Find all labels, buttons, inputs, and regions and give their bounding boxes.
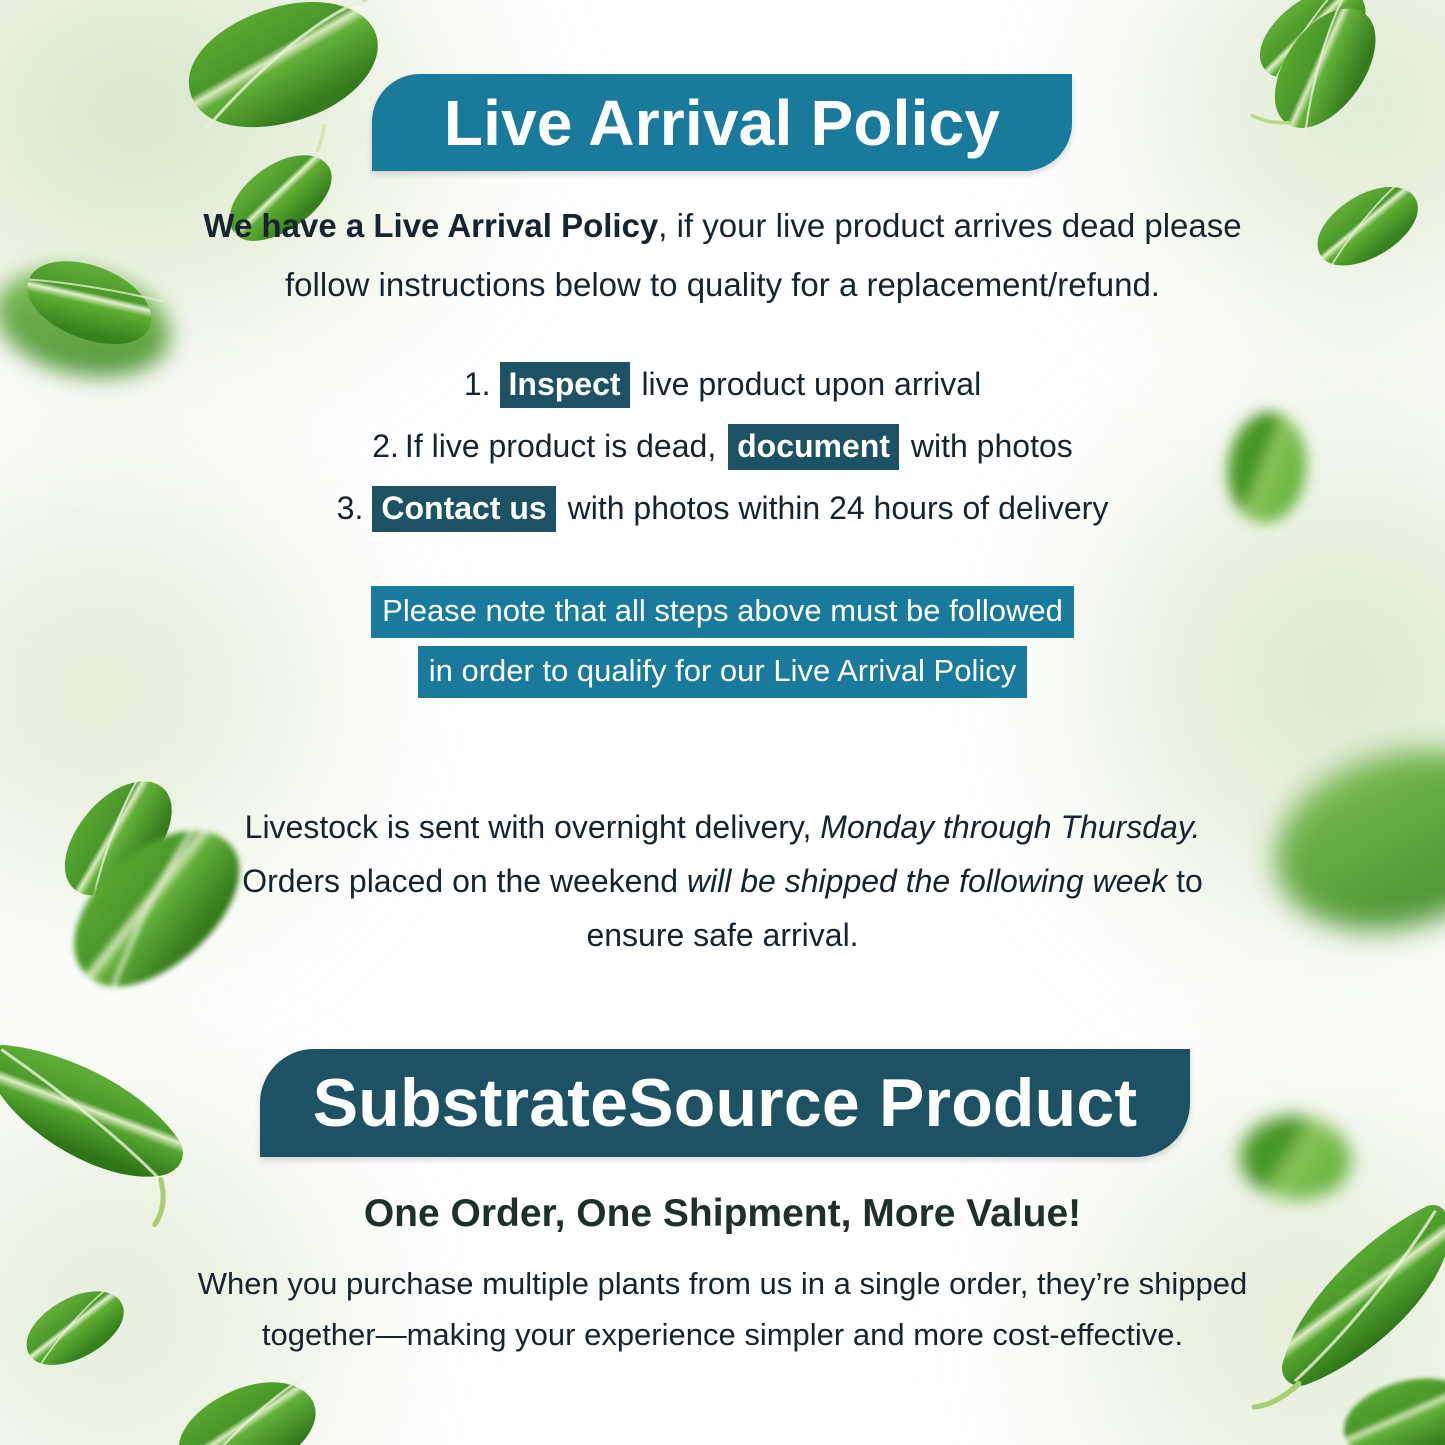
step-text: live product upon arrival (641, 366, 981, 402)
intro-lead-bold: We have a Live Arrival Policy (203, 207, 658, 244)
shipping-schedule-paragraph: Livestock is sent with overnight deliver… (0, 800, 1445, 962)
shipping-seg-3: Orders placed on the weekend (242, 863, 687, 899)
step-text: with photos within 24 hours of delivery (568, 490, 1109, 526)
steps-list: 1.Inspect live product upon arrival 2.If… (0, 353, 1445, 539)
step-number: 2. (372, 428, 399, 464)
value-paragraph: When you purchase multiple plants from u… (0, 1258, 1445, 1360)
shipping-seg-1: Livestock is sent with overnight deliver… (245, 809, 821, 845)
live-arrival-policy-title: Live Arrival Policy (444, 86, 1000, 160)
intro-paragraph: We have a Live Arrival Policy, if your l… (0, 196, 1445, 314)
live-arrival-policy-banner: Live Arrival Policy (372, 74, 1072, 171)
list-item: 2.If live product is dead, document with… (0, 415, 1445, 477)
list-item: 3.Contact us with photos within 24 hours… (0, 477, 1445, 539)
step-highlight-contact-us[interactable]: Contact us (372, 486, 555, 532)
step-highlight-document: document (728, 424, 899, 470)
shipping-seg-4-italic: will be shipped the following week (687, 863, 1167, 899)
value-headline: One Order, One Shipment, More Value! (0, 1192, 1445, 1236)
step-text: with photos (911, 428, 1073, 464)
policy-note-line-1: Please note that all steps above must be… (371, 586, 1074, 638)
policy-note-block: Please note that all steps above must be… (0, 586, 1445, 698)
substrate-source-product-banner: SubstrateSource Product (260, 1049, 1190, 1157)
live-arrival-policy-infographic: Live Arrival Policy We have a Live Arriv… (0, 0, 1445, 1445)
step-text-before: If live product is dead, (405, 428, 716, 464)
substrate-source-product-title: SubstrateSource Product (313, 1064, 1138, 1142)
policy-note-line-2: in order to qualify for our Live Arrival… (418, 646, 1028, 698)
step-highlight-inspect: Inspect (500, 362, 630, 408)
step-number: 3. (337, 490, 364, 526)
shipping-seg-2-italic: Monday through Thursday. (820, 809, 1200, 845)
list-item: 1.Inspect live product upon arrival (0, 353, 1445, 415)
step-number: 1. (464, 366, 491, 402)
